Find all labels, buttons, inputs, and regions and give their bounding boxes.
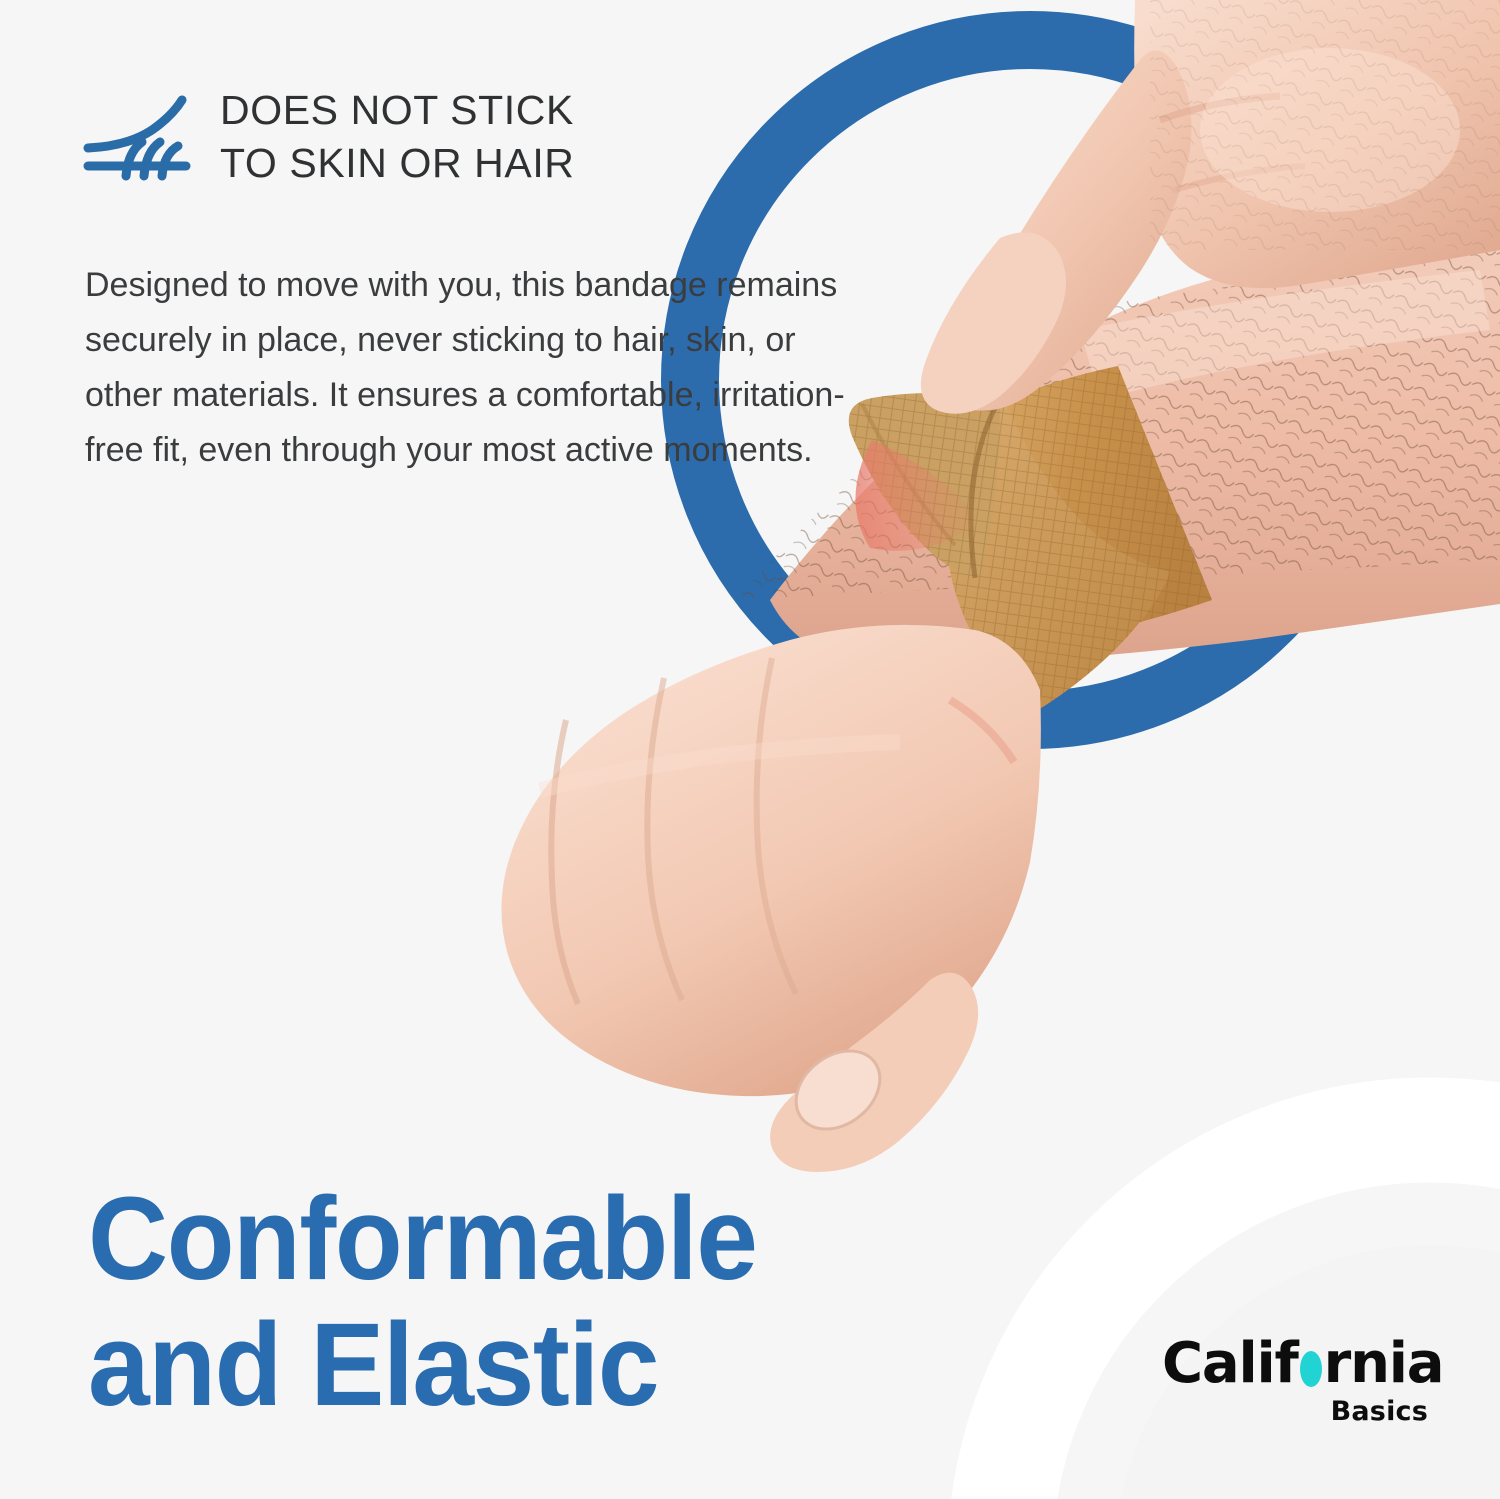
logo-wordmark: Calif rnia xyxy=(1162,1336,1430,1392)
brand-logo: Calif rnia Basics xyxy=(1162,1336,1430,1427)
no-stick-to-hair-icon xyxy=(82,90,194,182)
headline: Conformable and Elastic xyxy=(88,1176,757,1429)
feature-title: DOES NOT STICK TO SKIN OR HAIR xyxy=(220,84,575,191)
logo-subtitle: Basics xyxy=(1162,1396,1430,1427)
bandage-band xyxy=(1005,366,1212,640)
feature-heading-block: DOES NOT STICK TO SKIN OR HAIR xyxy=(82,84,575,191)
logo-text-part1: Calif xyxy=(1162,1336,1298,1392)
bandage-wrap xyxy=(946,402,1170,712)
feature-description: Designed to move with you, this bandage … xyxy=(85,258,875,478)
white-ring xyxy=(1000,1130,1500,1499)
gripping-hand xyxy=(921,0,1500,414)
logo-o-ring-icon xyxy=(1300,1351,1322,1387)
clenched-fist xyxy=(501,625,1040,1172)
product-feature-image: DOES NOT STICK TO SKIN OR HAIR Designed … xyxy=(0,0,1500,1499)
logo-text-part2: rnia xyxy=(1324,1336,1444,1392)
